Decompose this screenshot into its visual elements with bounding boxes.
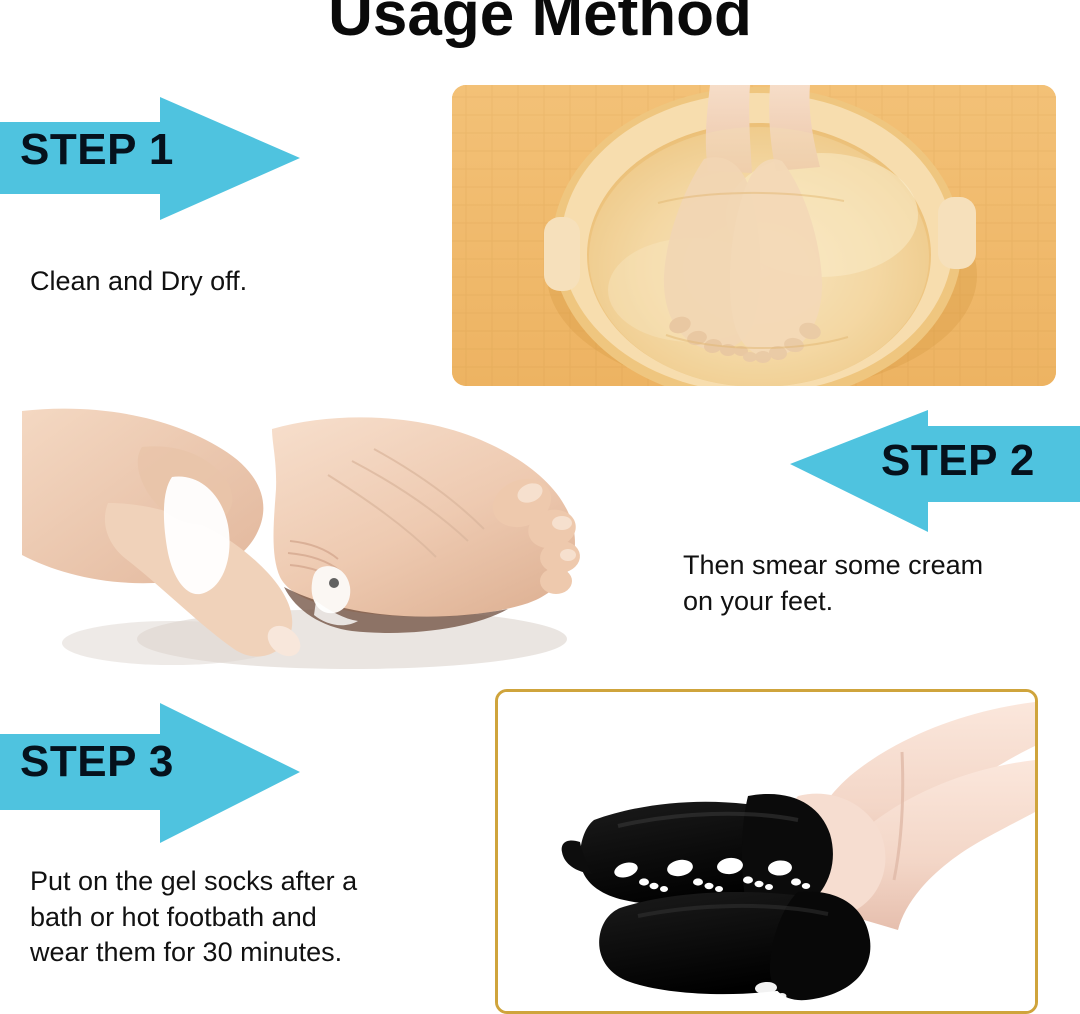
step-3-photo-gelsocks	[495, 689, 1038, 1014]
step-1-badge-label: STEP 1	[20, 125, 174, 175]
step-3-arrow: STEP 3	[0, 698, 310, 850]
step-3-caption: Put on the gel socks after a bath or hot…	[30, 864, 357, 971]
step-3-badge-label: STEP 3	[20, 737, 174, 787]
step-2-arrow: STEP 2	[786, 408, 1080, 540]
step-1-photo-footbath	[452, 85, 1056, 386]
step-2-caption: Then smear some cream on your feet.	[683, 548, 983, 619]
step-1-caption: Clean and Dry off.	[30, 264, 247, 300]
step-2-badge-label: STEP 2	[881, 436, 1035, 486]
cream-application-illustration	[22, 391, 602, 673]
step-1-arrow: STEP 1	[0, 92, 310, 227]
step-2-photo-cream	[22, 391, 602, 673]
page-title: Usage Method	[0, 0, 1080, 46]
gel-socks-illustration	[498, 692, 1035, 1011]
footbath-illustration	[452, 85, 1056, 386]
